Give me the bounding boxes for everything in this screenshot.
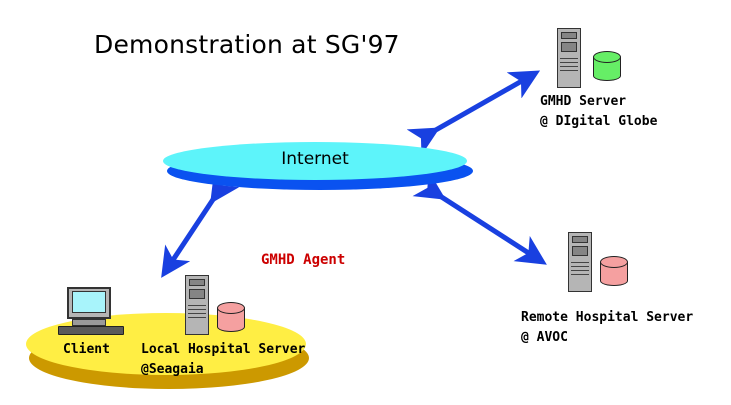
gmhd-agent-annotation: GMHD Agent [261, 252, 345, 268]
arrow-internet-gmhd-server [434, 74, 534, 131]
node-local-hospital-label-line2: @Seagaia [141, 360, 305, 380]
diagram-canvas: Demonstration at SG'97 Internet [0, 0, 731, 405]
node-gmhd-server-label: GMHD Server @ DIgital Globe [540, 92, 657, 132]
database-cylinder-icon [217, 302, 247, 338]
server-tower-icon [568, 232, 594, 294]
internet-label: Internet [163, 149, 467, 169]
node-local-hospital-label-line1: Local Hospital Server [141, 340, 305, 360]
database-cylinder-icon [600, 256, 630, 292]
node-gmhd-server-label-line1: GMHD Server [540, 92, 657, 112]
node-remote-hospital-label-line1: Remote Hospital Server [521, 308, 693, 328]
node-remote-hospital-label-line2: @ AVOC [521, 328, 693, 348]
node-remote-hospital-server-label: Remote Hospital Server @ AVOC [521, 308, 693, 348]
monitor-screen [72, 291, 106, 313]
node-client[interactable] [58, 287, 124, 335]
node-local-hospital-server-label: Local Hospital Server @Seagaia [141, 340, 305, 380]
server-tower-icon [557, 28, 583, 90]
monitor-stand [72, 319, 106, 326]
keyboard-icon [58, 326, 124, 335]
server-tower-icon [185, 275, 211, 337]
internet-node[interactable]: Internet [163, 142, 473, 192]
arrow-internet-local-site [165, 198, 214, 272]
node-client-label-line1: Client [63, 340, 110, 360]
arrow-internet-remote-hospital [440, 196, 541, 261]
node-client-label: Client [63, 340, 110, 360]
database-cylinder-icon [593, 51, 623, 87]
node-gmhd-server-label-line2: @ DIgital Globe [540, 112, 657, 132]
